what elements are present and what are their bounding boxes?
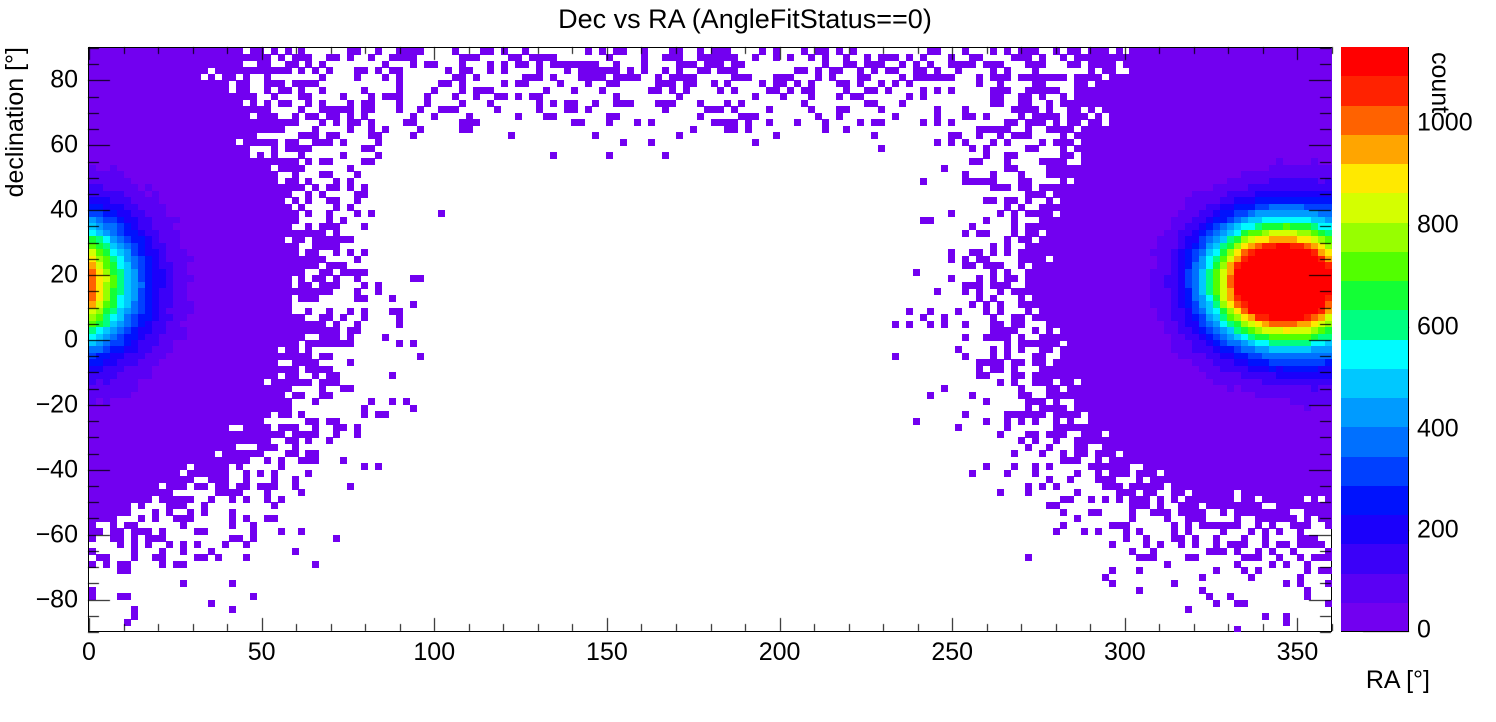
- x-tick-label: 200: [759, 640, 801, 665]
- x-tick-label: 250: [931, 640, 973, 665]
- x-tick-label: 150: [586, 640, 628, 665]
- colorbar-tick-label: 800: [1417, 213, 1459, 238]
- colorbar-title: count: [1427, 52, 1452, 113]
- y-tick-label: 40: [0, 198, 78, 223]
- colorbar-tick-label: 600: [1417, 314, 1459, 339]
- y-tick-label: 0: [0, 328, 78, 353]
- x-tick-label: 300: [1104, 640, 1146, 665]
- x-axis-title: RA [°]: [1366, 668, 1430, 693]
- colorbar-tick-label: 400: [1417, 416, 1459, 441]
- plot-canvas-root: Dec vs RA (AngleFitStatus==0) 0501001502…: [0, 0, 1496, 722]
- x-tick-label: 50: [248, 640, 276, 665]
- x-tick-label: 350: [1277, 640, 1319, 665]
- y-tick-label: −40: [0, 457, 78, 482]
- colorbar-tick-label: 200: [1417, 518, 1459, 543]
- y-tick-label: −20: [0, 392, 78, 417]
- y-axis-title: declination [°]: [3, 47, 28, 197]
- y-tick-label: −60: [0, 522, 78, 547]
- x-tick-label: 100: [413, 640, 455, 665]
- page-title: Dec vs RA (AngleFitStatus==0): [0, 4, 1493, 34]
- colorbar-tick-label: 0: [1417, 618, 1431, 643]
- x-tick-label: 0: [82, 640, 96, 665]
- y-tick-label: −80: [0, 587, 78, 612]
- y-tick-label: 20: [0, 263, 78, 288]
- histogram-image: [89, 48, 1332, 632]
- color-scale-bar-border: [1341, 47, 1409, 632]
- colorbar-tick-label: 1000: [1417, 111, 1473, 136]
